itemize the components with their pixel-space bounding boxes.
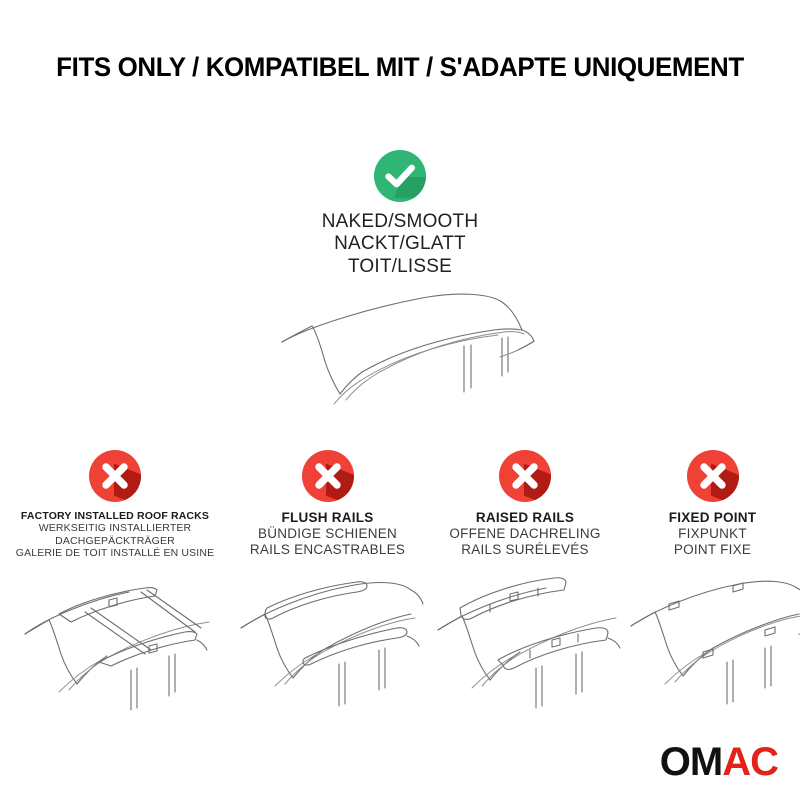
- item-line-3: POINT FIXE: [669, 542, 757, 558]
- car-roof-factory-roof-racks-illustration: [3, 566, 228, 716]
- compatible-line-2: NACKT/GLATT: [322, 233, 479, 255]
- x-circle-icon: [302, 450, 354, 502]
- item-caption: FACTORY INSTALLED ROOF RACKS WERKSEITIG …: [16, 510, 214, 560]
- item-line-2: OFFENE DACHRELING: [449, 526, 600, 542]
- omac-logo-accent: AC: [722, 740, 778, 784]
- compatible-line-3: TOIT/LISSE: [322, 256, 479, 278]
- car-roof-fixed-point-illustration: [615, 564, 800, 714]
- x-circle-icon: [89, 450, 141, 502]
- incompatible-section: FACTORY INSTALLED ROOF RACKS WERKSEITIG …: [0, 450, 800, 716]
- item-line-4: GALERIE DE TOIT INSTALLÉ EN USINE: [16, 547, 214, 559]
- compatible-line-1: NAKED/SMOOTH: [322, 211, 479, 233]
- check-circle-icon: [374, 150, 426, 202]
- compatible-caption: NAKED/SMOOTH NACKT/GLATT TOIT/LISSE: [322, 211, 479, 278]
- item-line-2: WERKSEITIG INSTALLIERTER: [16, 522, 214, 534]
- item-line-1: FIXED POINT: [669, 510, 757, 526]
- item-line-1: FACTORY INSTALLED ROOF RACKS: [16, 510, 214, 522]
- car-roof-naked-smooth-illustration: [250, 284, 550, 424]
- compatible-section: NAKED/SMOOTH NACKT/GLATT TOIT/LISSE: [0, 150, 800, 424]
- page-title: FITS ONLY / KOMPATIBEL MIT / S'ADAPTE UN…: [16, 52, 784, 83]
- x-circle-icon: [687, 450, 739, 502]
- item-line-2: BÜNDIGE SCHIENEN: [250, 526, 405, 542]
- car-roof-flush-rails-illustration: [223, 564, 433, 714]
- item-line-3: RAILS SURÉLEVÉS: [449, 542, 600, 558]
- omac-logo-dark: OM: [660, 740, 722, 784]
- item-caption: FLUSH RAILS BÜNDIGE SCHIENEN RAILS ENCAS…: [250, 510, 405, 558]
- car-roof-raised-rails-illustration: [420, 564, 630, 714]
- incompatible-item-flush-rails: FLUSH RAILS BÜNDIGE SCHIENEN RAILS ENCAS…: [230, 450, 425, 714]
- item-line-1: FLUSH RAILS: [250, 510, 405, 526]
- item-line-3: DACHGEPÄCKTRÄGER: [16, 535, 214, 547]
- item-line-3: RAILS ENCASTRABLES: [250, 542, 405, 558]
- item-caption: FIXED POINT FIXPUNKT POINT FIXE: [669, 510, 757, 558]
- incompatible-item-raised-rails: RAISED RAILS OFFENE DACHRELING RAILS SUR…: [425, 450, 625, 714]
- incompatible-item-fixed-point: FIXED POINT FIXPUNKT POINT FIXE: [625, 450, 800, 714]
- x-circle-icon: [499, 450, 551, 502]
- item-line-1: RAISED RAILS: [449, 510, 600, 526]
- item-caption: RAISED RAILS OFFENE DACHRELING RAILS SUR…: [449, 510, 600, 558]
- incompatible-item-factory-roof-racks: FACTORY INSTALLED ROOF RACKS WERKSEITIG …: [0, 450, 230, 716]
- omac-logo: OMAC: [660, 742, 778, 782]
- item-line-2: FIXPUNKT: [669, 526, 757, 542]
